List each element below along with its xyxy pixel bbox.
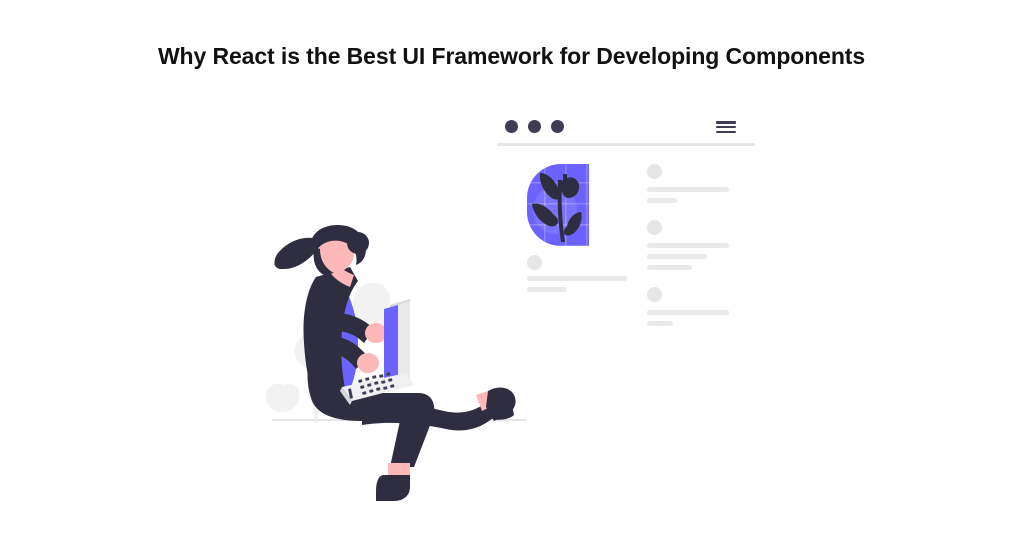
placeholder-line [647,265,692,270]
list-item[interactable] [647,164,729,203]
browser-divider [497,143,755,146]
hamburger-bar-1 [716,121,736,124]
hamburger-bar-2 [716,126,736,129]
woman-figure-icon [258,225,533,520]
list-item[interactable] [647,220,729,270]
avatar [647,287,662,302]
hamburger-menu-icon[interactable] [716,121,736,133]
placeholder-line [647,254,707,259]
placeholder-line [527,276,627,281]
placeholder-line [647,187,729,192]
placeholder-line [647,243,729,248]
placeholder-line [647,310,729,315]
placeholder-line [527,287,567,292]
window-dot-1-icon[interactable] [505,120,518,133]
browser-window-mockup [497,112,755,312]
placeholder-line [647,198,677,203]
avatar [527,255,542,270]
list-item[interactable] [647,287,729,326]
woman-sitting-with-laptop-illustration [258,225,533,520]
mock-right-column [647,164,729,343]
window-dot-3-icon[interactable] [551,120,564,133]
avatar [647,164,662,179]
placeholder-line [647,321,673,326]
mock-left-column [527,164,627,292]
avatar [647,220,662,235]
plant-leaves-thumbnail[interactable] [527,164,589,246]
window-control-dots [505,120,564,133]
browser-title-bar [497,112,755,142]
hamburger-bar-3 [716,131,736,134]
plant-leaves-icon [527,164,589,246]
mock-left-meta [527,255,627,292]
page-title: Why React is the Best UI Framework for D… [0,43,1023,70]
window-dot-2-icon[interactable] [528,120,541,133]
